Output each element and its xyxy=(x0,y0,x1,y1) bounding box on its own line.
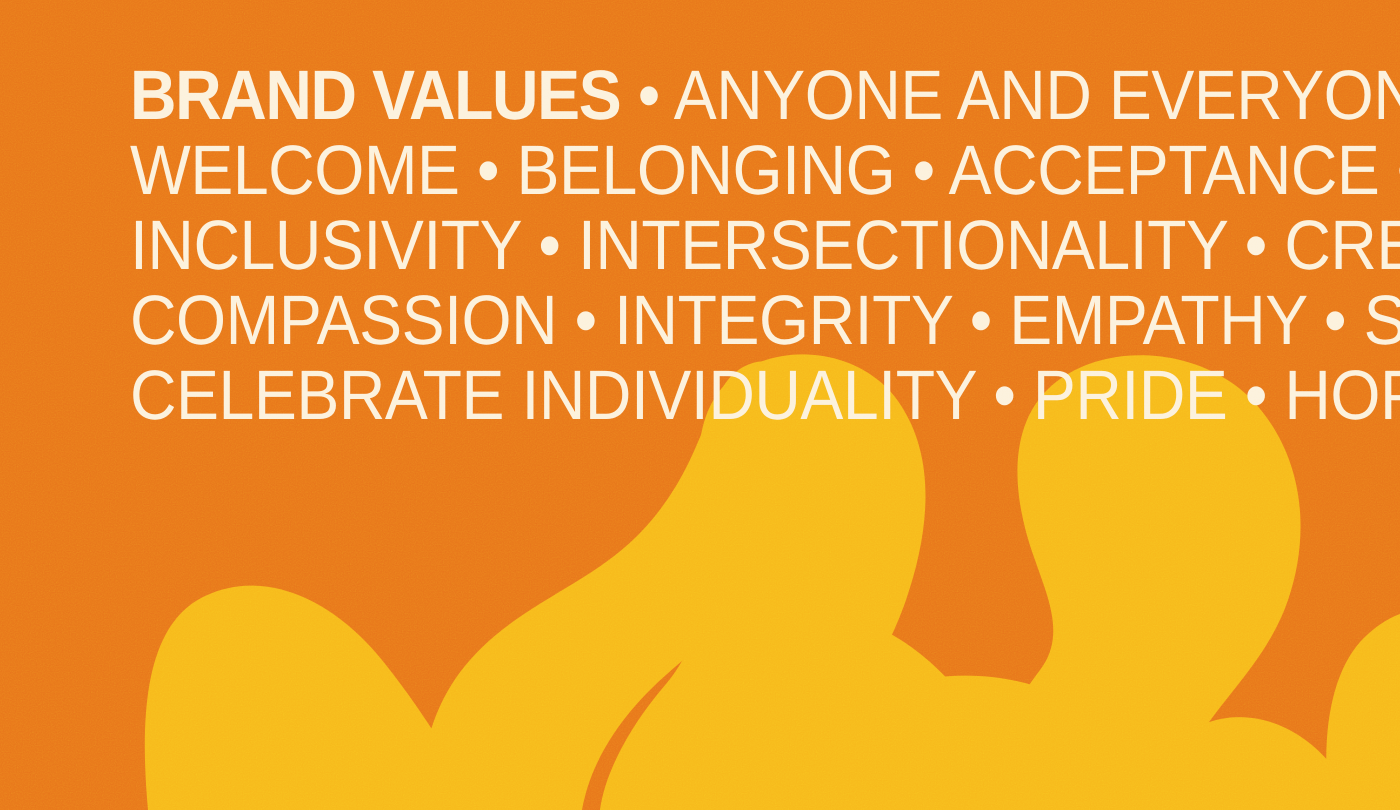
blob-shape-bottom-wash xyxy=(156,620,420,810)
blob-shape-bottom-right-band xyxy=(1140,717,1354,810)
values-line-1-text: • ANYONE AND EVERYONE IS xyxy=(620,56,1400,134)
values-line-4: COMPASSION • INTEGRITY • EMPATHY • SAFET… xyxy=(130,283,1234,358)
values-line-1: BRAND VALUES • ANYONE AND EVERYONE IS xyxy=(130,58,1234,133)
blob-shape-center-fill xyxy=(600,612,1020,810)
blob-shape-left xyxy=(145,586,486,810)
values-line-5: CELEBRATE INDIVIDUALITY • PRIDE • HOPE xyxy=(130,358,1234,433)
blob-shape-valley-bridge xyxy=(790,676,1168,810)
blob-shape-right-edge xyxy=(1326,614,1400,810)
brand-values-poster: BRAND VALUES • ANYONE AND EVERYONE IS WE… xyxy=(0,0,1400,810)
page-title: BRAND VALUES xyxy=(130,56,620,134)
values-line-2: WELCOME • BELONGING • ACCEPTANCE • JOY xyxy=(130,133,1234,208)
values-line-3: INCLUSIVITY • INTERSECTIONALITY • CREATI… xyxy=(130,208,1234,283)
brand-values-text-block: BRAND VALUES • ANYONE AND EVERYONE IS WE… xyxy=(130,58,1330,433)
